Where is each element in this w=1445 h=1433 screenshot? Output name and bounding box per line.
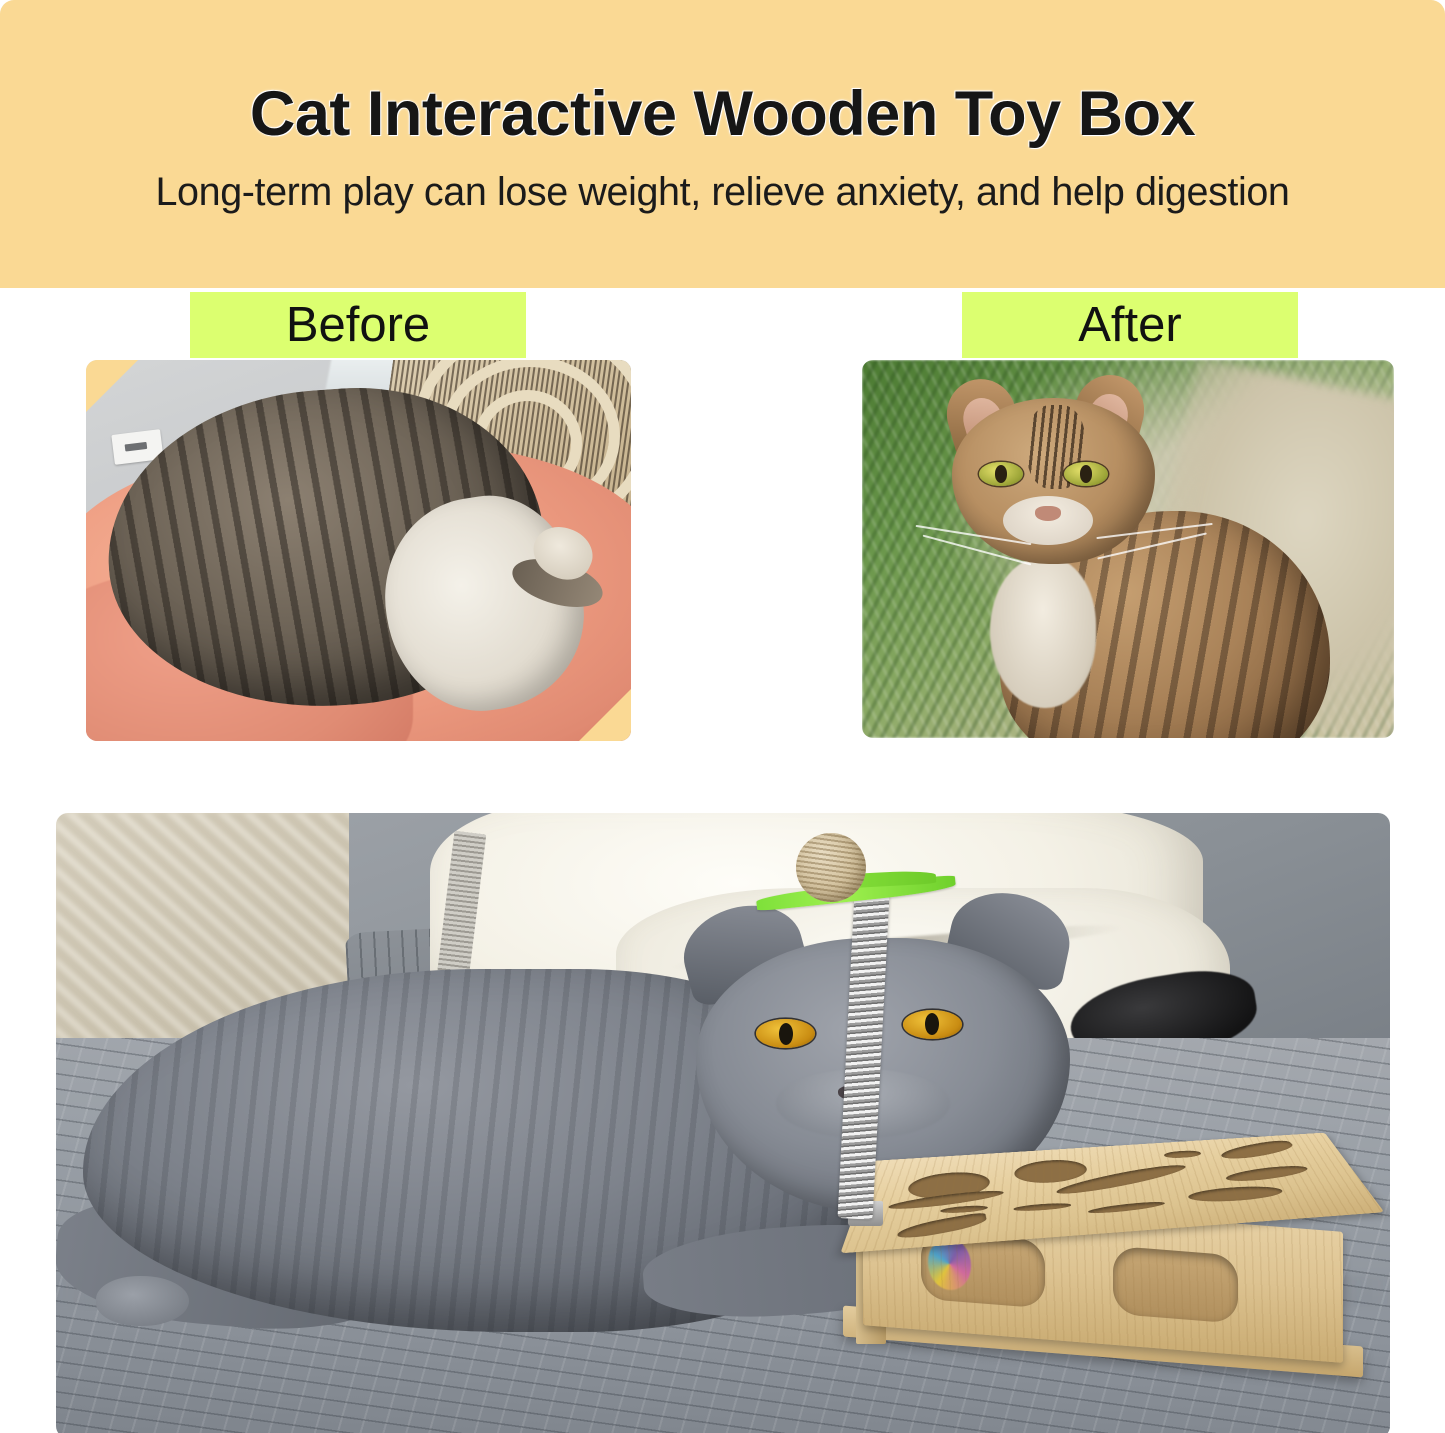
page-title: Cat Interactive Wooden Toy Box (250, 81, 1195, 147)
paw-cutout-10 (1087, 1200, 1166, 1215)
after-label: After (962, 292, 1298, 358)
after-scene (862, 360, 1394, 738)
paw-cutout-6 (1053, 1161, 1189, 1199)
paw-cutout-1 (905, 1170, 990, 1201)
grey-cat-paw (96, 1276, 189, 1326)
slim-cat-muzzle (1003, 496, 1093, 545)
page-subtitle: Long-term play can lose weight, relieve … (155, 170, 1289, 215)
paw-cutout-5 (888, 1188, 1004, 1212)
main-product-photo (56, 813, 1390, 1433)
grey-cat-eye-left (756, 1019, 815, 1048)
paw-cutout-4 (1216, 1138, 1296, 1162)
main-scene (56, 813, 1390, 1433)
slim-cat-nose (1035, 506, 1062, 521)
corner-triangle-bottom-right (579, 689, 631, 741)
before-photo (86, 360, 631, 741)
after-photo (862, 360, 1394, 738)
before-label: Before (190, 292, 526, 358)
corner-triangle-top-left (86, 360, 138, 412)
toy-box-opening-right (1113, 1245, 1238, 1323)
paw-cutout-9 (1013, 1202, 1071, 1212)
before-scene (86, 360, 631, 741)
grey-cat-eye-right (903, 1010, 962, 1039)
paw-cutout-2 (1014, 1158, 1088, 1185)
sisal-rope-ball (796, 833, 865, 902)
slim-cat-chest (990, 557, 1096, 708)
paw-cutout-11 (897, 1212, 987, 1241)
paw-cutout-3 (1163, 1150, 1202, 1159)
paw-cutout-12 (1186, 1184, 1286, 1204)
slim-cat-eye-right (1064, 462, 1108, 486)
header-banner: Cat Interactive Wooden Toy Box Long-term… (0, 0, 1445, 288)
paw-cutout-8 (939, 1204, 988, 1214)
paw-cutout-7 (1223, 1163, 1312, 1184)
slim-cat-eye-left (979, 462, 1023, 486)
